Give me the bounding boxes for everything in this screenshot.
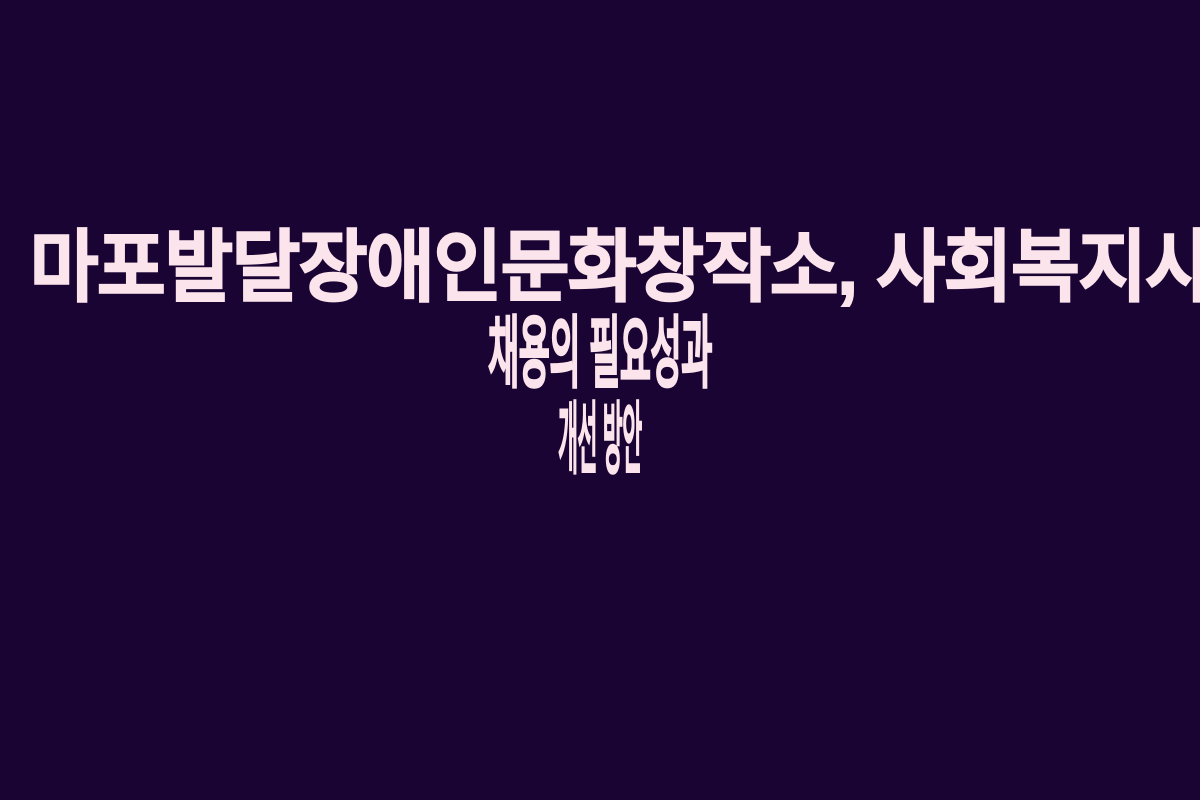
page-title: 마포발달장애인문화창작소, 사회복지사 채용의 필요성과 개선 방안 <box>0 228 1200 478</box>
title-line-3: 개선 방안 <box>435 400 765 478</box>
title-card: 마포발달장애인문화창작소, 사회복지사 채용의 필요성과 개선 방안 <box>0 0 1200 800</box>
title-line-1: 마포발달장애인문화창작소, 사회복지사 <box>30 228 1170 306</box>
title-line-2: 채용의 필요성과 <box>340 314 860 392</box>
